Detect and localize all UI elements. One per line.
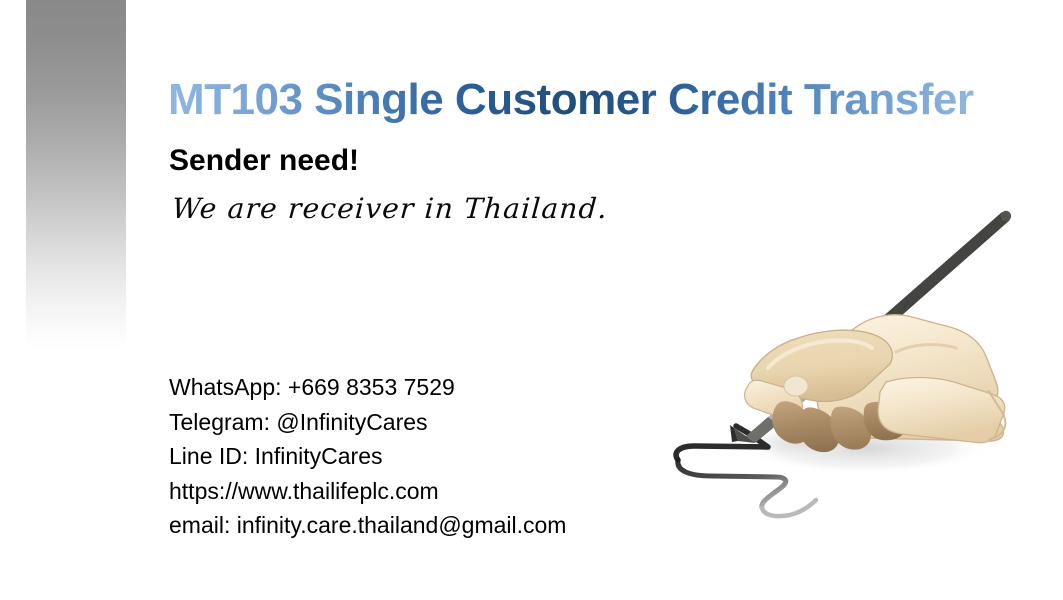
contact-line-lineid: Line ID: InfinityCares <box>169 439 566 474</box>
signature-stroke-2 <box>678 460 786 508</box>
contact-line-website[interactable]: https://www.thailifeplc.com <box>169 474 566 509</box>
subtitle-script-text: We are receiver in Thailand. <box>171 192 609 225</box>
thumb-nail <box>784 376 808 396</box>
pen-barrel-cap <box>1001 211 1011 221</box>
contact-line-whatsapp: WhatsApp: +669 8353 7529 <box>169 370 566 405</box>
hand-writing-illustration <box>650 190 1050 520</box>
slide-canvas: MT103 Single Customer Credit Transfer MT… <box>0 0 1063 600</box>
page-title: MT103 Single Customer Credit Transfer MT… <box>168 77 974 123</box>
page-title-text: MT103 Single Customer Credit Transfer <box>168 77 974 123</box>
contact-line-telegram: Telegram: @InfinityCares <box>169 405 566 440</box>
contact-line-email[interactable]: email: infinity.care.thailand@gmail.com <box>169 508 566 543</box>
left-gradient-bar <box>26 0 126 350</box>
headline-text: Sender need! <box>169 144 359 178</box>
contact-info-list: WhatsApp: +669 8353 7529 Telegram: @Infi… <box>169 370 566 543</box>
signature-stroke-tail <box>762 500 816 516</box>
